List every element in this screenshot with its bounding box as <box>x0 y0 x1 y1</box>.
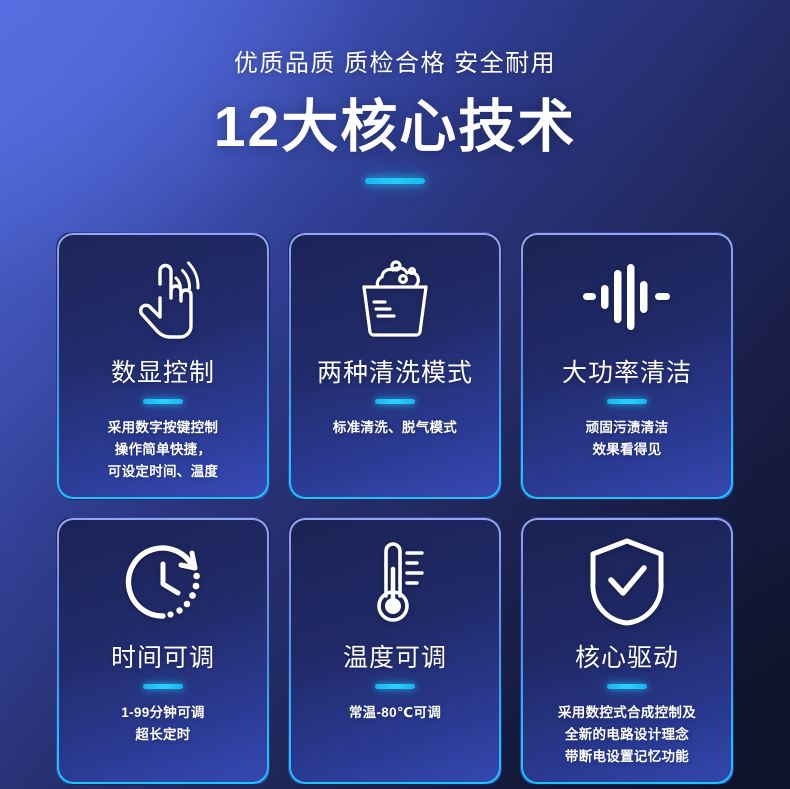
desc-line: 超长定时 <box>121 724 204 746</box>
wash-basin-bubbles-icon <box>352 233 438 361</box>
card-title: 大功率清洁 <box>562 361 692 386</box>
desc-line: 全新的电路设计理念 <box>558 724 696 746</box>
card-title: 时间可调 <box>111 646 215 671</box>
card-divider <box>375 399 415 404</box>
card-description: 1-99分钟可调 超长定时 <box>111 702 214 746</box>
headline-divider <box>365 178 425 184</box>
feature-card[interactable]: 数显控制 采用数字按键控制 操作简单快捷， 可设定时间、温度 <box>56 232 270 500</box>
card-description: 常温-80℃可调 <box>339 702 451 724</box>
desc-line: 1-99分钟可调 <box>121 702 204 724</box>
feature-card[interactable]: 大功率清洁 顽固污渍清洁 效果看得见 <box>520 232 734 500</box>
page-title: 12大核心技术 <box>0 98 790 156</box>
shield-check-icon <box>587 518 667 646</box>
card-title: 核心驱动 <box>575 646 679 671</box>
card-description: 采用数控式合成控制及 全新的电路设计理念 带断电设置记忆功能 <box>548 702 706 768</box>
desc-line: 带断电设置记忆功能 <box>558 746 696 768</box>
feature-card[interactable]: 核心驱动 采用数控式合成控制及 全新的电路设计理念 带断电设置记忆功能 <box>520 517 734 785</box>
desc-line: 采用数字按键控制 <box>108 417 218 439</box>
feature-card[interactable]: 时间可调 1-99分钟可调 超长定时 <box>56 517 270 785</box>
card-description: 采用数字按键控制 操作简单快捷， 可设定时间、温度 <box>98 417 228 483</box>
desc-line: 顽固污渍清洁 <box>586 417 669 439</box>
feature-card[interactable]: 温度可调 常温-80℃可调 <box>288 517 502 785</box>
hand-tap-icon <box>124 233 202 361</box>
feature-card[interactable]: 两种清洗模式 标准清洗、脱气模式 <box>288 232 502 500</box>
desc-line: 效果看得见 <box>586 439 669 461</box>
card-divider <box>607 684 647 689</box>
card-divider <box>143 399 183 404</box>
card-divider <box>143 684 183 689</box>
card-description: 顽固污渍清洁 效果看得见 <box>576 417 679 461</box>
card-title: 温度可调 <box>343 646 447 671</box>
desc-line: 可设定时间、温度 <box>108 461 218 483</box>
card-divider <box>607 399 647 404</box>
desc-line: 采用数控式合成控制及 <box>558 702 696 724</box>
feature-card-grid: 数显控制 采用数字按键控制 操作简单快捷， 可设定时间、温度 <box>56 232 734 785</box>
card-description: 标准清洗、脱气模式 <box>323 417 467 439</box>
card-title: 两种清洗模式 <box>317 361 473 386</box>
clock-rotate-icon <box>121 518 205 646</box>
promo-page: 优质品质 质检合格 安全耐用 12大核心技术 数显控制 <box>0 0 790 789</box>
card-title: 数显控制 <box>111 361 215 386</box>
sound-wave-icon <box>581 233 673 361</box>
thermometer-icon <box>364 518 426 646</box>
desc-line: 操作简单快捷， <box>108 439 218 461</box>
desc-line: 标准清洗、脱气模式 <box>333 417 457 439</box>
header-eyebrow: 优质品质 质检合格 安全耐用 <box>0 52 790 76</box>
card-divider <box>375 684 415 689</box>
page-header: 优质品质 质检合格 安全耐用 12大核心技术 <box>0 0 790 184</box>
desc-line: 常温-80℃可调 <box>349 702 441 724</box>
